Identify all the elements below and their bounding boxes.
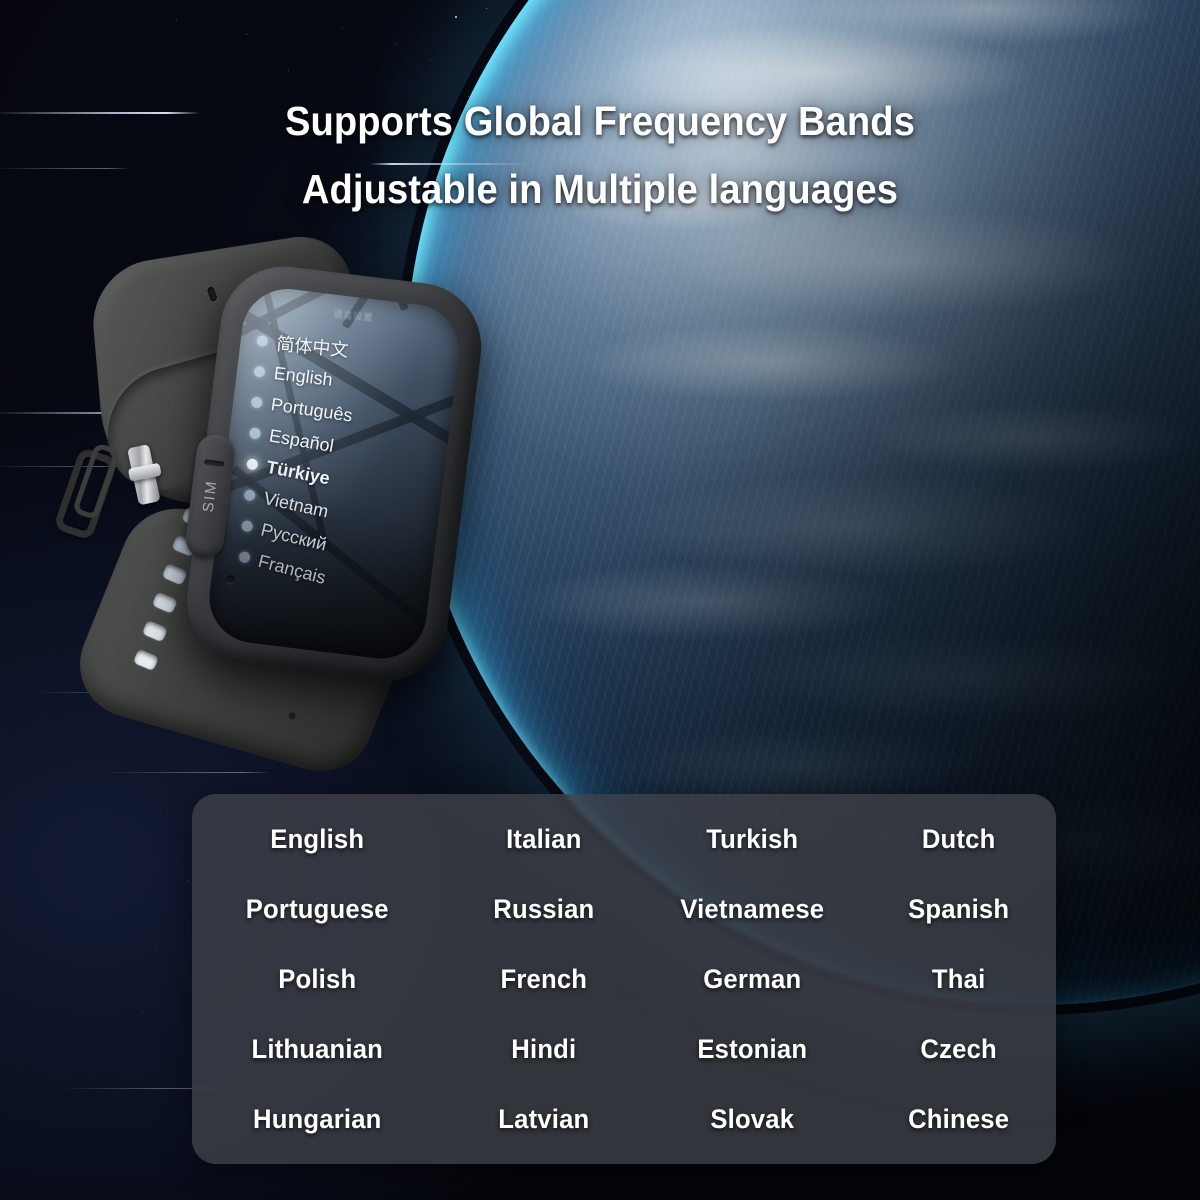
language-cell: Portuguese bbox=[198, 894, 436, 925]
watch-strap-hole bbox=[152, 592, 178, 614]
headline: Supports Global Frequency Bands Adjustab… bbox=[0, 92, 1200, 218]
language-cell: Vietnamese bbox=[650, 894, 856, 925]
watch-strap-hole bbox=[207, 286, 218, 303]
language-cell: German bbox=[650, 964, 856, 995]
star bbox=[342, 28, 343, 29]
star bbox=[396, 44, 397, 45]
screen-glass-reflection bbox=[204, 284, 464, 664]
watch-strap-hole bbox=[133, 649, 159, 671]
language-cell: Estonian bbox=[650, 1034, 856, 1065]
headline-line-1: Supports Global Frequency Bands bbox=[42, 92, 1158, 150]
language-cell: Italian bbox=[448, 824, 640, 855]
language-cell: Slovak bbox=[650, 1104, 856, 1135]
supported-languages-panel: EnglishItalianTurkishDutchPortugueseRuss… bbox=[192, 794, 1056, 1164]
language-cell: Latvian bbox=[448, 1104, 640, 1135]
promo-banner: Supports Global Frequency Bands Adjustab… bbox=[0, 0, 1200, 1200]
language-cell: French bbox=[448, 964, 640, 995]
language-cell: Czech bbox=[866, 1034, 1052, 1065]
smartwatch-product-image: 语言设置 简体中文 English Português Español bbox=[69, 231, 515, 752]
language-row: PortugueseRussianVietnameseSpanish bbox=[192, 874, 1056, 944]
star bbox=[455, 16, 457, 18]
star bbox=[486, 8, 487, 9]
star bbox=[188, 880, 189, 881]
language-row: EnglishItalianTurkishDutch bbox=[192, 804, 1056, 874]
language-cell: Lithuanian bbox=[198, 1034, 436, 1065]
language-row: PolishFrenchGermanThai bbox=[192, 944, 1056, 1014]
watch-strap-hole bbox=[142, 620, 168, 642]
language-cell: English bbox=[198, 824, 436, 855]
star bbox=[176, 20, 177, 21]
watch-screen[interactable]: 语言设置 简体中文 English Português Español bbox=[204, 284, 464, 664]
star bbox=[142, 1012, 143, 1013]
language-row: LithuanianHindiEstonianCzech bbox=[192, 1014, 1056, 1084]
language-cell: Dutch bbox=[866, 824, 1052, 855]
language-cell: Chinese bbox=[866, 1104, 1052, 1135]
language-cell: Hindi bbox=[448, 1034, 640, 1065]
star bbox=[246, 34, 247, 35]
language-cell: Thai bbox=[866, 964, 1052, 995]
star bbox=[288, 70, 289, 71]
language-cell: Hungarian bbox=[198, 1104, 436, 1135]
headline-line-2: Adjustable in Multiple languages bbox=[42, 160, 1158, 218]
language-cell: Polish bbox=[198, 964, 436, 995]
language-cell: Russian bbox=[448, 894, 640, 925]
language-cell: Spanish bbox=[866, 894, 1052, 925]
star bbox=[430, 60, 431, 61]
language-cell: Turkish bbox=[650, 824, 856, 855]
watch-strap-hole bbox=[162, 563, 188, 585]
language-row: HungarianLatvianSlovakChinese bbox=[192, 1084, 1056, 1154]
